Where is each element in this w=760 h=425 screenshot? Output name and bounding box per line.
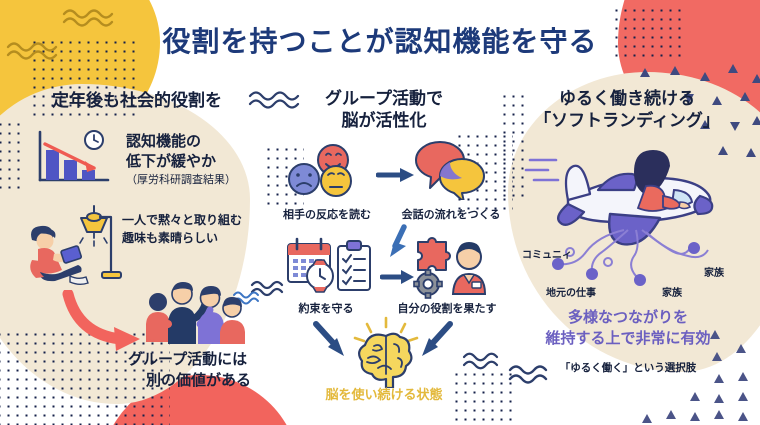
- middle-column-heading-line1: グループ活動で: [258, 88, 510, 109]
- network-label-3: 家族: [704, 264, 724, 279]
- chart-caption-line2: 低下が緩やか: [126, 152, 216, 172]
- column-right: ゆるく働き続ける 「ソフトランディング」: [510, 88, 758, 418]
- brain-icon: [350, 316, 422, 393]
- speech-bubbles-icon: [408, 138, 494, 205]
- right-highlight-line2: 維持する上で非常に有効: [510, 329, 746, 349]
- declining-bar-chart-icon: [32, 128, 116, 195]
- emoji-faces-icon: [286, 143, 364, 202]
- person-reading-icon: [18, 222, 106, 291]
- chart-caption-line1: 認知機能の: [126, 132, 201, 152]
- brain-result-caption: 脳を使い続ける状態: [258, 384, 510, 403]
- person-icon: [453, 242, 485, 294]
- diagonal-arrow-icon-left: [312, 320, 350, 365]
- network-label-1: 地元の仕事: [546, 284, 596, 299]
- network-label-0: コミュニィ: [522, 246, 572, 261]
- right-footnote: 「ゆるく働く」という選択肢: [510, 360, 746, 375]
- step2-caption: 会話の流れをつくる: [392, 206, 510, 222]
- left-column-heading: 定年後も社会的役割を: [32, 90, 242, 111]
- group-caption-line1: グループ活動には: [128, 350, 247, 370]
- network-label-2: 家族: [662, 284, 682, 299]
- right-column-heading-line1: ゆるく働き続ける: [510, 88, 744, 109]
- red-curved-arrow-icon: [62, 290, 150, 357]
- group-caption-line2: 別の価値がある: [146, 371, 251, 391]
- chart-source-note: （厚労科研調査結果）: [126, 173, 236, 188]
- puzzle-gear-person-icon: [410, 234, 490, 305]
- right-highlight-line1: 多様なつながりを: [510, 308, 746, 328]
- infographic-canvas: 役割を持つことが認知機能を守る 定年後も社会的役割を: [0, 0, 760, 425]
- column-middle: グループ活動で 脳が活性化: [258, 88, 510, 418]
- calendar-clock-checklist-icon: [284, 236, 374, 303]
- clock-icon: [85, 131, 103, 149]
- lamp-note-line1: 一人で黙々と取り組む: [122, 212, 242, 228]
- group-of-people-icon: [138, 280, 248, 351]
- right-column-heading-line2: 「ソフトランディング」: [510, 110, 744, 131]
- step4-caption: 自分の役割を果たす: [384, 300, 510, 316]
- down-arrow-icon: [386, 224, 412, 265]
- step3-caption: 約束を守る: [274, 300, 378, 316]
- page-title: 役割を持つことが認知機能を守る: [0, 20, 760, 60]
- step1-caption: 相手の反応を読む: [272, 206, 382, 222]
- middle-column-heading-line2: 脳が活性化: [258, 110, 510, 131]
- gear-icon: [414, 270, 442, 298]
- lamp-note-line2: 趣味も素晴らしい: [122, 230, 218, 246]
- column-left: 定年後も社会的役割を 認知機能の 低下が緩やか: [14, 90, 254, 420]
